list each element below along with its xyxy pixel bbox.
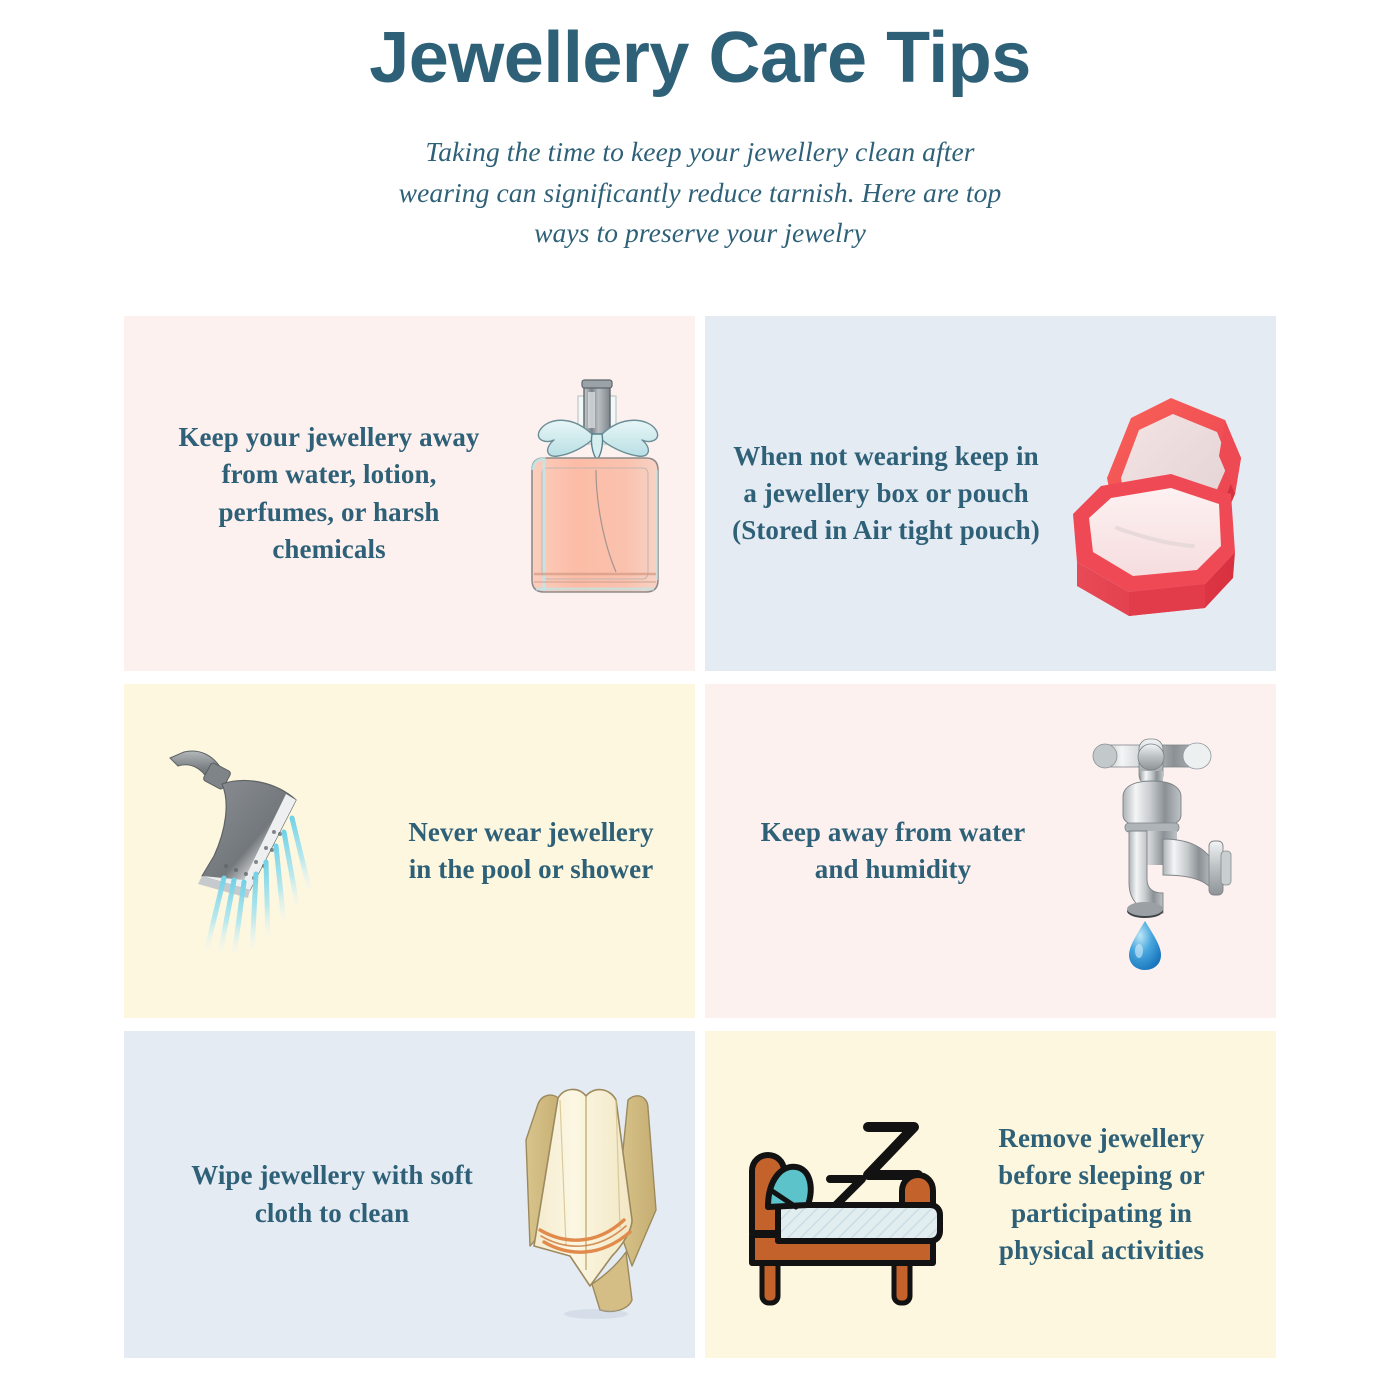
bed-sleep-icon xyxy=(731,1087,971,1302)
ring-box-icon xyxy=(1055,386,1270,601)
header: Jewellery Care Tips Taking the time to k… xyxy=(0,0,1400,254)
tip-card-text: Keep away from water and humidity xyxy=(757,814,1029,889)
tip-card-text: When not wearing keep in a jewellery box… xyxy=(727,438,1045,550)
shower-head-icon xyxy=(160,744,395,959)
tip-card-bed: Remove jewellery before sleeping or part… xyxy=(705,1031,1276,1358)
faucet-drip-icon xyxy=(1071,731,1266,971)
page-subtitle: Taking the time to keep your jewellery c… xyxy=(380,132,1020,254)
tip-card-text: Remove jewellery before sleeping or part… xyxy=(971,1120,1232,1269)
tip-card-perfume: Keep your jewellery away from water, lot… xyxy=(124,316,695,671)
tip-card-shower: Never wear jewellery in the pool or show… xyxy=(124,684,695,1018)
tip-card-faucet: Keep away from water and humidity xyxy=(705,684,1276,1018)
tips-grid: Keep your jewellery away from water, lot… xyxy=(124,316,1276,1358)
page-title: Jewellery Care Tips xyxy=(0,0,1400,94)
cloth-icon xyxy=(510,1070,690,1320)
infographic-page: Jewellery Care Tips Taking the time to k… xyxy=(0,0,1400,1400)
tip-card-ring-box: When not wearing keep in a jewellery box… xyxy=(705,316,1276,671)
tip-card-cloth: Wipe jewellery with soft cloth to clean xyxy=(124,1031,695,1358)
tip-card-text: Never wear jewellery in the pool or show… xyxy=(395,814,667,889)
perfume-bottle-icon xyxy=(500,374,690,614)
tip-card-text: Wipe jewellery with soft cloth to clean xyxy=(182,1157,482,1232)
tip-card-text: Keep your jewellery away from water, lot… xyxy=(164,419,494,568)
